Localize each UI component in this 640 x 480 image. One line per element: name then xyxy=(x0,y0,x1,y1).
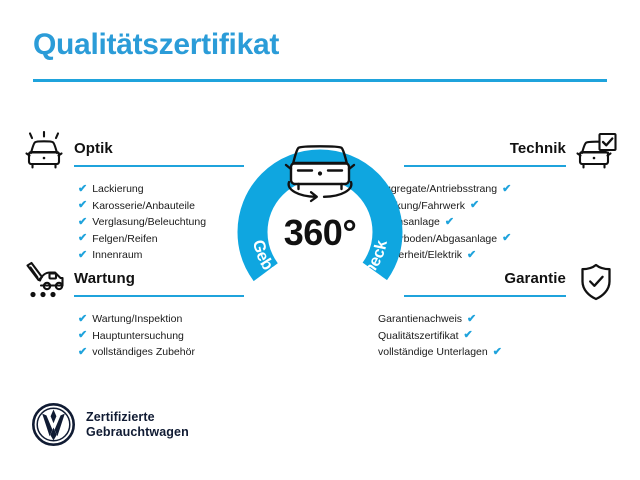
check-icon: ✔ xyxy=(464,330,473,341)
list-item-label: vollständiges Zubehör xyxy=(92,344,195,361)
shield-check-icon xyxy=(574,261,618,303)
check-icon: ✔ xyxy=(78,330,87,341)
page-title: Qualitätszertifikat xyxy=(33,28,607,61)
check-icon: ✔ xyxy=(78,200,87,211)
section-technik-divider xyxy=(404,165,566,167)
list-item: ✔Qualitätszertifikat xyxy=(378,328,560,345)
list-item-label: vollständige Unterlagen xyxy=(378,344,488,361)
page-header: Qualitätszertifikat xyxy=(33,28,607,82)
section-optik-divider xyxy=(74,165,244,167)
check-icon: ✔ xyxy=(445,217,454,228)
check-icon: ✔ xyxy=(493,347,502,358)
badge-360-gebrauchtwagen-check: Gebrauchtwagen-Check 360° xyxy=(224,114,416,316)
list-item-label: Hauptuntersuchung xyxy=(92,328,184,345)
list-item-label: Lackierung xyxy=(92,181,143,198)
list-item-label: Wartung/Inspektion xyxy=(92,311,182,328)
car-service-tool-icon xyxy=(22,261,66,303)
list-item: ✔vollständiges Zubehör xyxy=(78,344,262,361)
check-icon: ✔ xyxy=(467,250,476,261)
check-icon: ✔ xyxy=(502,233,511,244)
badge-center-label: 360° xyxy=(284,212,356,253)
list-item-label: Qualitätszertifikat xyxy=(378,328,459,345)
footer-logo-line2: Gebrauchtwagen xyxy=(86,425,189,440)
list-item-label: Karosserie/Anbauteile xyxy=(92,198,195,215)
section-wartung-list: ✔Wartung/Inspektion ✔Hauptuntersuchung ✔… xyxy=(78,311,262,361)
car-checkbox-icon xyxy=(574,131,618,173)
list-item: ✔vollständige Unterlagen xyxy=(378,344,560,361)
list-item-label: Verglasung/Beleuchtung xyxy=(92,214,206,231)
check-icon: ✔ xyxy=(78,250,87,261)
check-icon: ✔ xyxy=(78,217,87,228)
section-garantie-divider xyxy=(404,295,566,297)
check-icon: ✔ xyxy=(78,233,87,244)
footer-logo-text: Zertifizierte Gebrauchtwagen xyxy=(86,410,189,440)
section-wartung-divider xyxy=(74,295,244,297)
car-shine-icon xyxy=(22,131,66,173)
check-icon: ✔ xyxy=(78,347,87,358)
check-icon: ✔ xyxy=(78,184,87,195)
check-icon: ✔ xyxy=(467,314,476,325)
footer-vw-logo: Zertifizierte Gebrauchtwagen xyxy=(32,403,189,446)
check-icon: ✔ xyxy=(78,314,87,325)
vw-logo-icon xyxy=(32,403,75,446)
list-item: ✔Hauptuntersuchung xyxy=(78,328,262,345)
section-garantie-list: ✔Garantienachweis ✔Qualitätszertifikat ✔… xyxy=(378,311,560,361)
check-icon: ✔ xyxy=(502,184,511,195)
certificate-page: Qualitätszertifikat Optik xyxy=(0,0,640,480)
footer-logo-line1: Zertifizierte xyxy=(86,410,189,425)
header-divider xyxy=(33,79,607,82)
list-item-label: Felgen/Reifen xyxy=(92,231,157,248)
check-icon: ✔ xyxy=(470,200,479,211)
